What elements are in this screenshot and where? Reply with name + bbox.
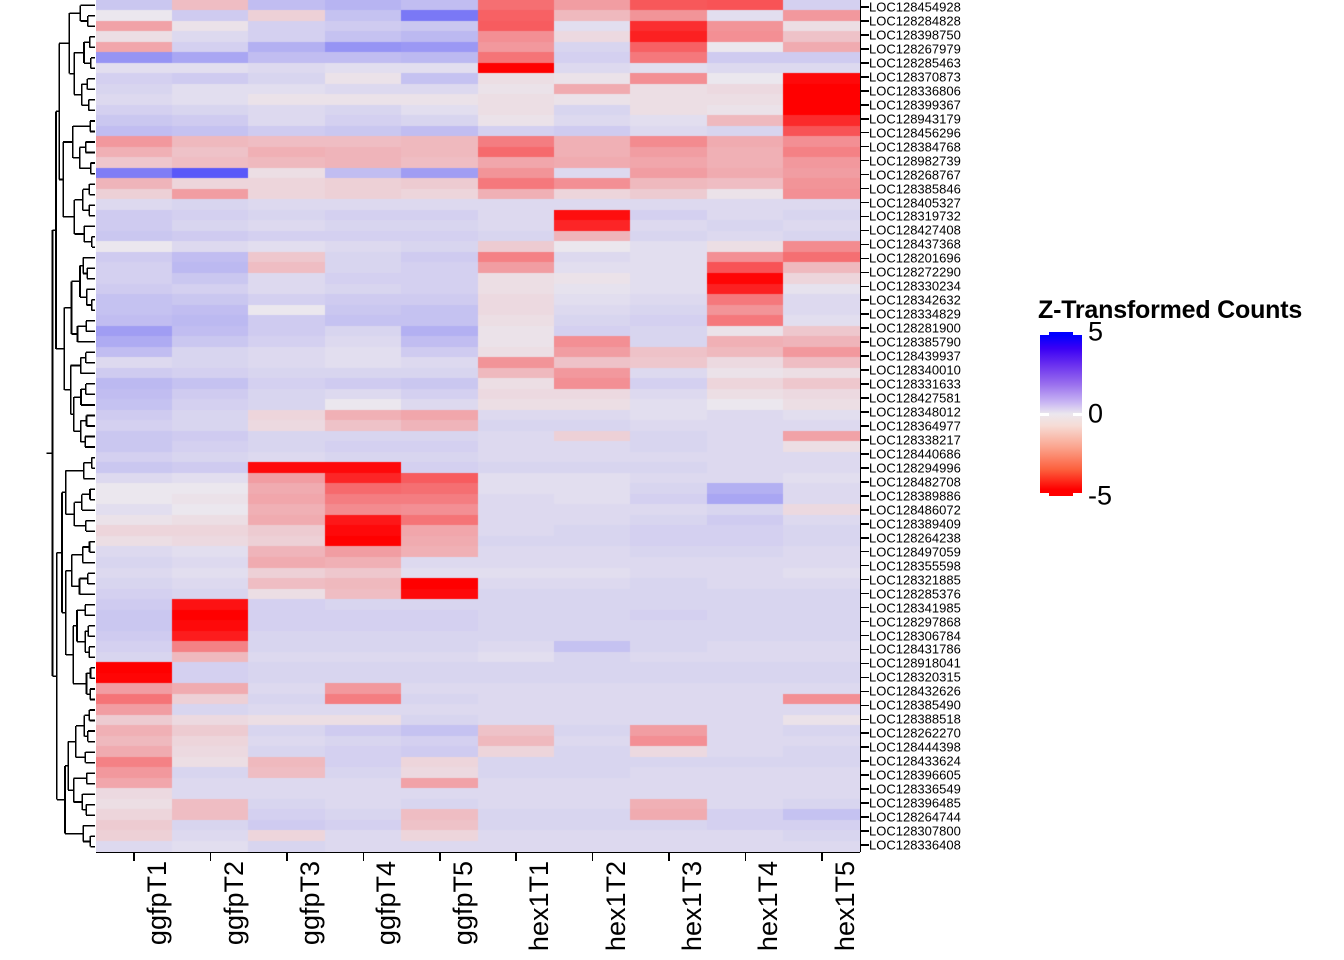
row-label: LOC128307800 bbox=[869, 825, 961, 838]
row-label: LOC128454928 bbox=[869, 0, 961, 13]
row-tick bbox=[861, 551, 869, 553]
row-label: LOC128320315 bbox=[869, 671, 961, 684]
row-label: LOC128385790 bbox=[869, 336, 961, 349]
row-tick bbox=[861, 244, 869, 246]
legend-tick bbox=[1040, 493, 1049, 496]
row-tick bbox=[861, 202, 869, 204]
row-label: LOC128486072 bbox=[869, 503, 961, 516]
row-label: LOC128330234 bbox=[869, 280, 961, 293]
row-tick bbox=[861, 816, 869, 818]
row-label: LOC128336408 bbox=[869, 839, 961, 852]
row-label: LOC128385846 bbox=[869, 182, 961, 195]
column-label: ggfpT4 bbox=[373, 861, 400, 945]
row-tick bbox=[861, 369, 869, 371]
row-label: LOC128306784 bbox=[869, 629, 961, 642]
row-label: LOC128439937 bbox=[869, 350, 961, 363]
row-tick bbox=[861, 677, 869, 679]
row-tick bbox=[861, 830, 869, 832]
row-tick bbox=[861, 48, 869, 50]
legend-tick-labels: 50-5 bbox=[1088, 332, 1208, 496]
row-label: LOC128482708 bbox=[869, 475, 961, 488]
row-label: LOC128398750 bbox=[869, 28, 961, 41]
row-tick bbox=[861, 146, 869, 148]
row-tick bbox=[861, 34, 869, 36]
row-tick bbox=[861, 62, 869, 64]
row-tick bbox=[861, 411, 869, 413]
row-label: LOC128336549 bbox=[869, 783, 961, 796]
row-tick bbox=[861, 6, 869, 8]
legend-tick bbox=[1073, 493, 1082, 496]
column-labels: ggfpT1ggfpT2ggfpT3ggfpT4ggfpT5hex1T1hex1… bbox=[96, 861, 860, 960]
legend-tick bbox=[1040, 413, 1049, 416]
column-tick bbox=[745, 853, 747, 861]
row-label: LOC128384768 bbox=[869, 140, 961, 153]
row-label: LOC128444398 bbox=[869, 741, 961, 754]
column-label: ggfpT2 bbox=[221, 861, 248, 945]
row-tick bbox=[861, 230, 869, 232]
row-tick bbox=[861, 746, 869, 748]
row-tick bbox=[861, 565, 869, 567]
row-label: LOC128389886 bbox=[869, 489, 961, 502]
row-label: LOC128285376 bbox=[869, 587, 961, 600]
row-label: LOC128431786 bbox=[869, 643, 961, 656]
row-tick bbox=[861, 593, 869, 595]
row-label: LOC128943179 bbox=[869, 112, 961, 125]
row-label: LOC128432626 bbox=[869, 685, 961, 698]
row-tick bbox=[861, 509, 869, 511]
row-tick bbox=[861, 705, 869, 707]
row-label: LOC128918041 bbox=[869, 657, 961, 670]
row-tick bbox=[861, 341, 869, 343]
row-label: LOC128982739 bbox=[869, 154, 961, 167]
row-tick bbox=[861, 132, 869, 134]
column-tick bbox=[210, 853, 212, 861]
row-label: LOC128262270 bbox=[869, 727, 961, 740]
row-label: LOC128355598 bbox=[869, 559, 961, 572]
row-tick bbox=[861, 188, 869, 190]
row-tick bbox=[861, 760, 869, 762]
row-label: LOC128338217 bbox=[869, 433, 961, 446]
row-label: LOC128364977 bbox=[869, 420, 961, 433]
row-tick bbox=[861, 774, 869, 776]
row-tick bbox=[861, 174, 869, 176]
legend-colorbar-ticks bbox=[1040, 332, 1082, 496]
column-tick bbox=[592, 853, 594, 861]
row-tick bbox=[861, 467, 869, 469]
row-label: LOC128272290 bbox=[869, 266, 961, 279]
row-dendrogram bbox=[0, 0, 96, 852]
row-label: LOC128321885 bbox=[869, 573, 961, 586]
heatmap-grid bbox=[96, 0, 860, 852]
row-label: LOC128370873 bbox=[869, 70, 961, 83]
legend-tick-label: 0 bbox=[1088, 399, 1103, 430]
row-tick bbox=[861, 439, 869, 441]
row-tick bbox=[861, 523, 869, 525]
row-label: LOC128497059 bbox=[869, 545, 961, 558]
row-tick bbox=[861, 160, 869, 162]
row-tick bbox=[861, 383, 869, 385]
row-tick bbox=[861, 104, 869, 106]
row-label: LOC128285463 bbox=[869, 56, 961, 69]
row-tick bbox=[861, 327, 869, 329]
column-label: hex1T3 bbox=[679, 861, 706, 951]
row-tick bbox=[861, 481, 869, 483]
column-label: hex1T5 bbox=[832, 861, 859, 951]
row-tick bbox=[861, 90, 869, 92]
legend-tick-label: -5 bbox=[1088, 481, 1112, 512]
row-label: LOC128264744 bbox=[869, 811, 961, 824]
row-label: LOC128331633 bbox=[869, 378, 961, 391]
row-label: LOC128268767 bbox=[869, 168, 961, 181]
column-label: hex1T4 bbox=[755, 861, 782, 951]
row-tick bbox=[861, 118, 869, 120]
row-label: LOC128388518 bbox=[869, 713, 961, 726]
row-tick bbox=[861, 635, 869, 637]
column-label: ggfpT3 bbox=[297, 861, 324, 945]
row-tick bbox=[861, 719, 869, 721]
row-label: LOC128385490 bbox=[869, 699, 961, 712]
row-tick bbox=[861, 313, 869, 315]
row-tick bbox=[861, 844, 869, 846]
row-label: LOC128427408 bbox=[869, 224, 961, 237]
row-tick bbox=[861, 20, 869, 22]
row-tick bbox=[861, 397, 869, 399]
row-tick bbox=[861, 788, 869, 790]
row-label: LOC128319732 bbox=[869, 210, 961, 223]
column-label: hex1T2 bbox=[603, 861, 630, 951]
column-tick bbox=[363, 853, 365, 861]
row-label: LOC128342632 bbox=[869, 294, 961, 307]
row-tick bbox=[861, 495, 869, 497]
row-tick bbox=[861, 732, 869, 734]
row-label: LOC128334829 bbox=[869, 308, 961, 321]
color-legend: Z-Transformed Counts 50-5 bbox=[1038, 296, 1338, 526]
row-label: LOC128336806 bbox=[869, 84, 961, 97]
row-label: LOC128433624 bbox=[869, 755, 961, 768]
row-label: LOC128297868 bbox=[869, 615, 961, 628]
row-tick bbox=[861, 299, 869, 301]
row-label: LOC128389409 bbox=[869, 517, 961, 530]
column-label: hex1T1 bbox=[526, 861, 553, 951]
row-label: LOC128405327 bbox=[869, 196, 961, 209]
row-label: LOC128437368 bbox=[869, 238, 961, 251]
row-tick bbox=[861, 621, 869, 623]
row-tick bbox=[861, 691, 869, 693]
row-label: LOC128264238 bbox=[869, 531, 961, 544]
column-tick bbox=[668, 853, 670, 861]
row-tick bbox=[861, 663, 869, 665]
column-tick bbox=[439, 853, 441, 861]
row-tick bbox=[861, 216, 869, 218]
row-label: LOC128294996 bbox=[869, 461, 961, 474]
row-tick bbox=[861, 649, 869, 651]
legend-tick bbox=[1073, 332, 1082, 335]
column-label: ggfpT1 bbox=[144, 861, 171, 945]
column-tick bbox=[821, 853, 823, 861]
row-labels: LOC128454928LOC128284828LOC128398750LOC1… bbox=[869, 0, 1049, 852]
row-tick bbox=[861, 425, 869, 427]
row-label: LOC128284828 bbox=[869, 14, 961, 27]
heatmap-figure: LOC128454928LOC128284828LOC128398750LOC1… bbox=[0, 0, 1344, 960]
heatmap-canvas bbox=[96, 0, 860, 852]
legend-tick bbox=[1040, 332, 1049, 335]
row-label: LOC128399367 bbox=[869, 98, 961, 111]
row-tick bbox=[861, 258, 869, 260]
column-tick-marks bbox=[96, 853, 860, 861]
row-tick bbox=[861, 537, 869, 539]
row-label: LOC128267979 bbox=[869, 42, 961, 55]
row-tick bbox=[861, 802, 869, 804]
row-label: LOC128396605 bbox=[869, 769, 961, 782]
legend-tick-label: 5 bbox=[1088, 317, 1103, 348]
row-label: LOC128456296 bbox=[869, 126, 961, 139]
row-tick bbox=[861, 272, 869, 274]
row-label: LOC128281900 bbox=[869, 322, 961, 335]
row-label: LOC128348012 bbox=[869, 406, 961, 419]
row-tick bbox=[861, 355, 869, 357]
row-label: LOC128340010 bbox=[869, 364, 961, 377]
row-tick bbox=[861, 453, 869, 455]
row-label: LOC128341985 bbox=[869, 601, 961, 614]
row-tick bbox=[861, 607, 869, 609]
column-tick bbox=[133, 853, 135, 861]
row-label: LOC128427581 bbox=[869, 392, 961, 405]
row-tick bbox=[861, 286, 869, 288]
row-tick-marks bbox=[861, 0, 869, 852]
row-label: LOC128396485 bbox=[869, 797, 961, 810]
row-tick bbox=[861, 76, 869, 78]
row-label: LOC128440686 bbox=[869, 447, 961, 460]
column-tick bbox=[286, 853, 288, 861]
row-label: LOC128201696 bbox=[869, 252, 961, 265]
row-tick bbox=[861, 579, 869, 581]
legend-tick bbox=[1073, 413, 1082, 416]
legend-title: Z-Transformed Counts bbox=[1038, 296, 1302, 325]
column-tick bbox=[515, 853, 517, 861]
column-label: ggfpT5 bbox=[450, 861, 477, 945]
